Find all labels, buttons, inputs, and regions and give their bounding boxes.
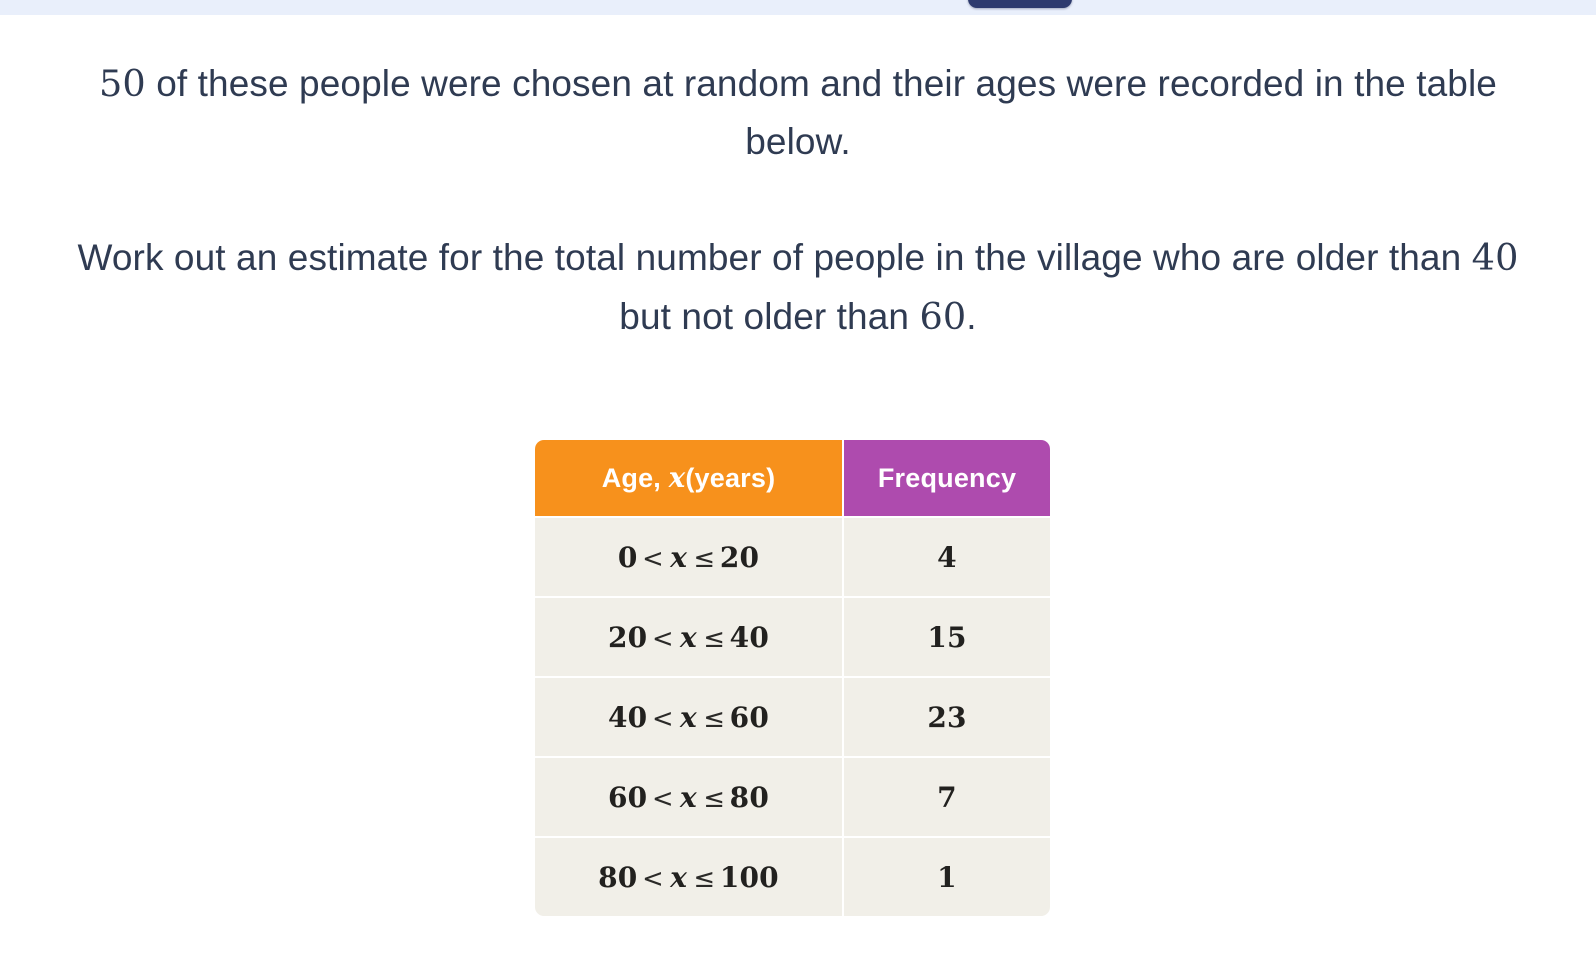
interval-expression: 60<x≤80 [608, 781, 769, 814]
frequency-value: 4 [937, 541, 957, 574]
interval-operator-right: ≤ [699, 784, 730, 814]
cell-frequency: 1 [844, 838, 1050, 916]
interval-variable: x [678, 621, 698, 654]
frequency-value: 7 [937, 781, 957, 814]
table-row: 60<x≤80 7 [535, 758, 1050, 836]
cell-frequency: 15 [844, 598, 1050, 676]
table-header-row: Age, x(years) Frequency [535, 440, 1050, 516]
question-paragraph-2-text-c: . [966, 296, 976, 337]
interval-operator-left: < [638, 864, 669, 894]
cell-age-interval: 60<x≤80 [535, 758, 842, 836]
interval-lower-bound: 60 [608, 781, 647, 814]
frequency-table-head: Age, x(years) Frequency [535, 440, 1050, 516]
cell-age-interval: 0<x≤20 [535, 518, 842, 596]
interval-upper-bound: 20 [720, 541, 759, 574]
interval-lower-bound: 0 [618, 541, 638, 574]
interval-expression: 20<x≤40 [608, 621, 769, 654]
interval-expression: 80<x≤100 [598, 861, 779, 894]
column-header-age: Age, x(years) [535, 440, 842, 516]
interval-variable: x [669, 861, 689, 894]
interval-operator-left: < [647, 784, 678, 814]
cell-age-interval: 40<x≤60 [535, 678, 842, 756]
interval-operator-right: ≤ [699, 624, 730, 654]
question-paragraph-2-text-a: Work out an estimate for the total numbe… [78, 237, 1472, 278]
interval-operator-right: ≤ [699, 704, 730, 734]
question-paragraph-2: Work out an estimate for the total numbe… [63, 229, 1533, 346]
cell-frequency: 23 [844, 678, 1050, 756]
interval-upper-bound: 40 [730, 621, 769, 654]
top-bar-action-button[interactable] [968, 0, 1072, 8]
interval-expression: 40<x≤60 [608, 701, 769, 734]
frequency-table: Age, x(years) Frequency 0<x≤20 4 20<x≤40… [533, 438, 1052, 918]
upper-bound-value: 60 [919, 295, 966, 338]
cell-age-interval: 80<x≤100 [535, 838, 842, 916]
interval-operator-right: ≤ [689, 864, 720, 894]
interval-variable: x [678, 701, 698, 734]
sample-size-value: 50 [99, 62, 146, 105]
interval-upper-bound: 80 [730, 781, 769, 814]
cell-age-interval: 20<x≤40 [535, 598, 842, 676]
table-row: 40<x≤60 23 [535, 678, 1050, 756]
cell-frequency: 4 [844, 518, 1050, 596]
interval-lower-bound: 40 [608, 701, 647, 734]
question-text: 50 of these people were chosen at random… [63, 55, 1533, 346]
frequency-value: 1 [937, 861, 957, 894]
interval-upper-bound: 60 [730, 701, 769, 734]
interval-variable: x [669, 541, 689, 574]
cell-frequency: 7 [844, 758, 1050, 836]
frequency-value: 15 [927, 621, 966, 654]
column-header-frequency: Frequency [844, 440, 1050, 516]
interval-lower-bound: 80 [598, 861, 637, 894]
column-header-age-variable: x [669, 462, 686, 494]
table-row: 20<x≤40 15 [535, 598, 1050, 676]
frequency-value: 23 [927, 701, 966, 734]
column-header-age-suffix: (years) [685, 463, 775, 493]
table-row: 0<x≤20 4 [535, 518, 1050, 596]
interval-operator-right: ≤ [689, 544, 720, 574]
interval-operator-left: < [647, 624, 678, 654]
interval-variable: x [678, 781, 698, 814]
interval-upper-bound: 100 [720, 861, 779, 894]
interval-operator-left: < [638, 544, 669, 574]
question-paragraph-1: 50 of these people were chosen at random… [63, 55, 1533, 172]
table-row: 80<x≤100 1 [535, 838, 1050, 916]
question-paragraph-1-text: of these people were chosen at random an… [146, 63, 1497, 162]
lower-bound-value: 40 [1472, 236, 1519, 279]
column-header-age-prefix: Age, [602, 463, 661, 493]
interval-operator-left: < [647, 704, 678, 734]
interval-expression: 0<x≤20 [618, 541, 759, 574]
frequency-table-body: 0<x≤20 4 20<x≤40 15 40<x≤60 23 60<x≤80 7… [535, 518, 1050, 916]
question-paragraph-2-text-b: but not older than [619, 296, 919, 337]
interval-lower-bound: 20 [608, 621, 647, 654]
question-card: 50 of these people were chosen at random… [0, 15, 1596, 955]
